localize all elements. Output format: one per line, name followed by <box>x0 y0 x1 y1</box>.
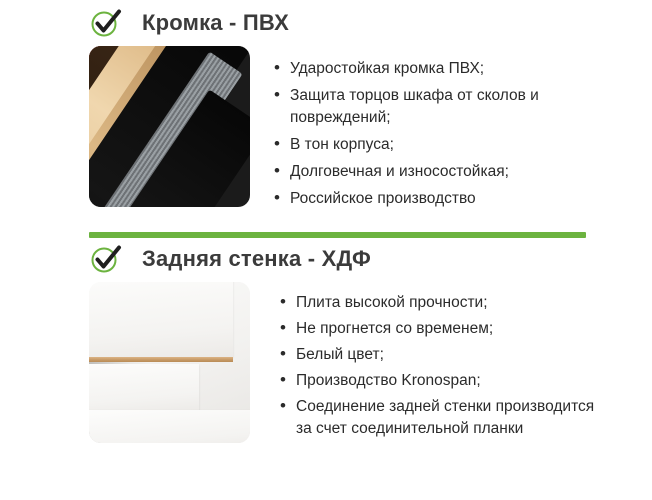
list-item: Российское производство <box>272 188 602 210</box>
panel-board-middle <box>89 364 199 412</box>
section-title-back: Задняя стенка - ХДФ <box>142 248 371 270</box>
list-item: Плита высокой прочности; <box>278 292 608 314</box>
product-features-page: Кромка - ПВХ Ударостойкая кр <box>0 0 652 500</box>
section-edge-banding: Кромка - ПВХ Ударостойкая кр <box>0 0 652 222</box>
panel-board-bottom <box>89 410 250 443</box>
edge-banding-image <box>89 46 250 207</box>
panel-board-top <box>89 282 233 357</box>
list-item: Долговечная и износостойкая; <box>272 161 602 183</box>
feature-list-edge: Ударостойкая кромка ПВХ; Защита торцов ш… <box>272 58 602 215</box>
list-item: Соединение задней стенки производится за… <box>278 396 608 440</box>
list-item: Ударостойкая кромка ПВХ; <box>272 58 602 80</box>
list-item: Белый цвет; <box>278 344 608 366</box>
feature-list-back: Плита высокой прочности; Не прогнется со… <box>278 292 608 444</box>
list-item: В тон корпуса; <box>272 134 602 156</box>
hdf-panel-image <box>89 282 250 443</box>
section-body-edge: Ударостойкая кромка ПВХ; Защита торцов ш… <box>0 46 652 222</box>
check-circle-icon <box>89 8 123 38</box>
section-heading-edge: Кромка - ПВХ <box>0 0 652 46</box>
edge-banding-artwork <box>89 46 250 207</box>
section-body-back: Плита высокой прочности; Не прогнется со… <box>0 282 652 458</box>
section-title-edge: Кромка - ПВХ <box>142 12 289 34</box>
hdf-panel-artwork <box>89 282 250 443</box>
check-circle-icon <box>89 244 123 274</box>
list-item: Защита торцов шкафа от сколов и поврежде… <box>272 85 602 129</box>
list-item: Производство Kronospan; <box>278 370 608 392</box>
section-back-panel: Задняя стенка - ХДФ Плит <box>0 236 652 458</box>
list-item: Не прогнется со временем; <box>278 318 608 340</box>
panel-core-edge <box>89 357 233 362</box>
section-heading-back: Задняя стенка - ХДФ <box>0 236 652 282</box>
